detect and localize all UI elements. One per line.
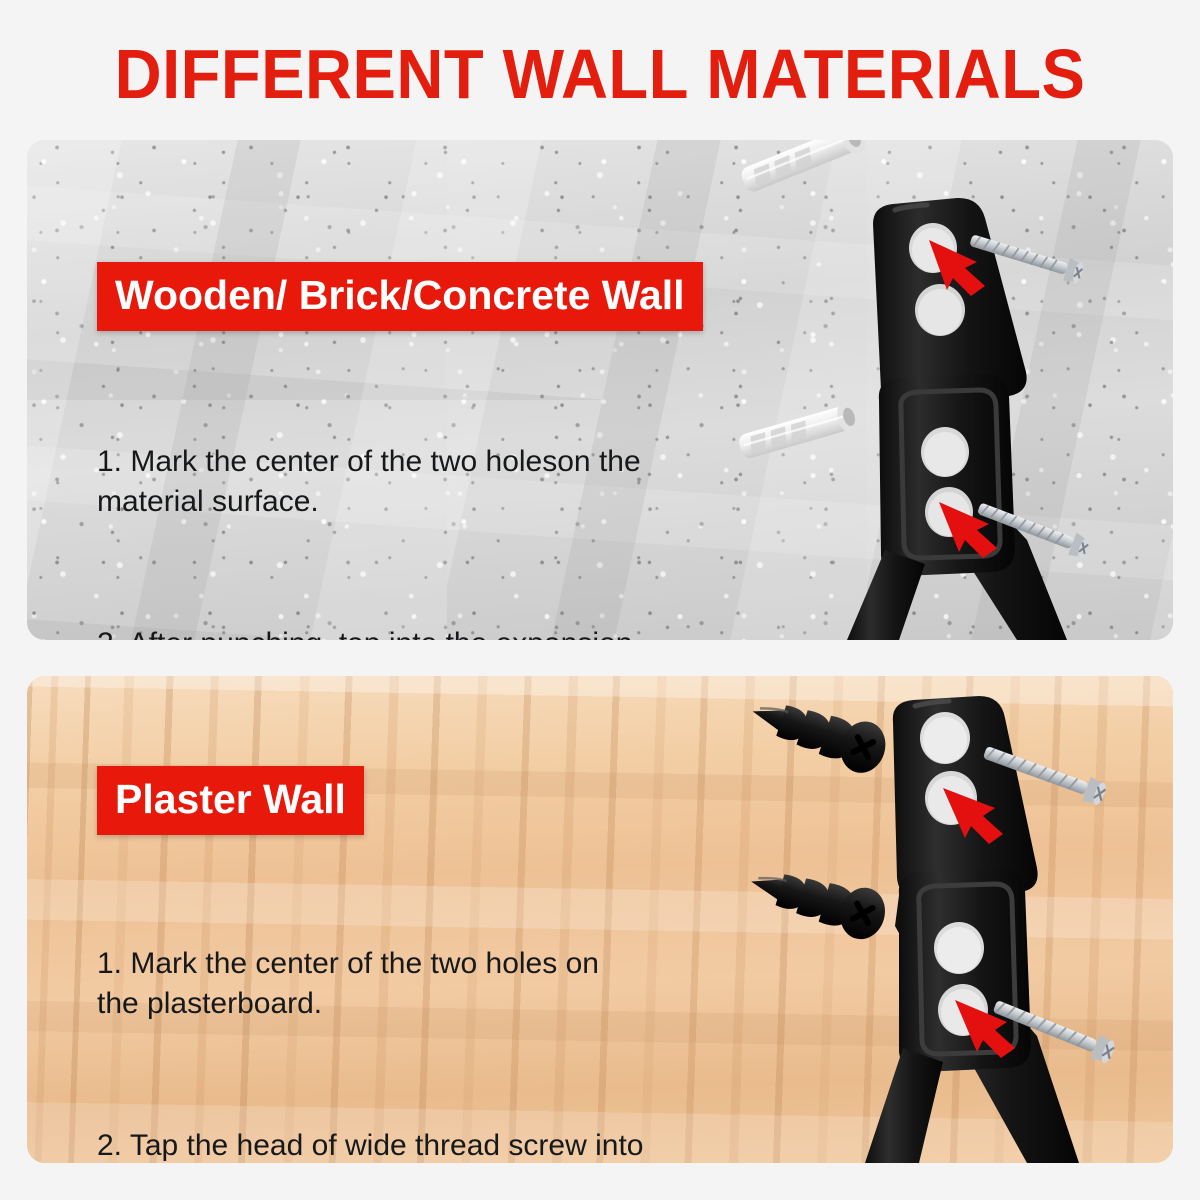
step-item: 2. Tap the head of wide thread screw int…	[97, 1126, 797, 1163]
banner-wooden-brick-concrete-wall: Wooden/ Brick/Concrete Wall	[97, 262, 703, 331]
page-title: DIFFERENT WALL MATERIALS	[42, 38, 1158, 110]
panel-plaster-wall: Plaster Wall 1. Mark the center of the t…	[27, 676, 1173, 1163]
banner-plaster-wall: Plaster Wall	[97, 766, 364, 835]
steps-concrete-wall: 1. Mark the center of the two holeson th…	[97, 362, 797, 640]
step-item: 2. After punching, tap into the expansio…	[97, 624, 797, 640]
panel-concrete-wall: Wooden/ Brick/Concrete Wall 1. Mark the …	[27, 140, 1173, 640]
step-item: 1. Mark the center of the two holes on t…	[97, 944, 797, 1024]
step-item: 1. Mark the center of the two holeson th…	[97, 442, 797, 522]
steps-plaster-wall: 1. Mark the center of the two holes on t…	[97, 864, 797, 1163]
